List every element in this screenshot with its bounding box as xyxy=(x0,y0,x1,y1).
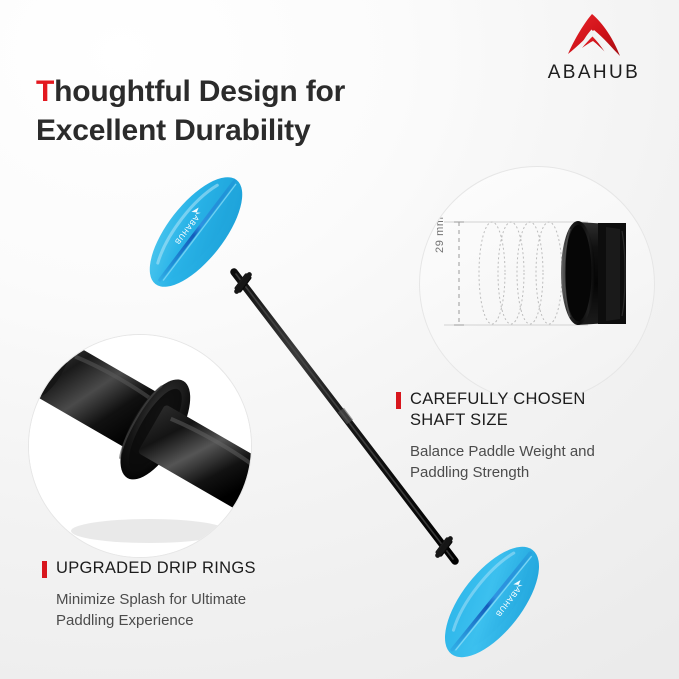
blade-brand-text-bottom: ABAHUB xyxy=(493,585,522,619)
shaft-size-diagram xyxy=(420,167,654,401)
callout-drip-rings: UPGRADED DRIP RINGS Minimize Splash for … xyxy=(42,558,342,631)
page-title-accent-letter: T xyxy=(36,75,54,108)
blade-swoosh-icon-bottom xyxy=(513,578,524,589)
callout-drip-heading-row: UPGRADED DRIP RINGS xyxy=(42,558,342,579)
brand-name: ABAHUB xyxy=(533,62,655,84)
callout-shaft-size: CAREFULLY CHOSEN SHAFT SIZE Balance Padd… xyxy=(396,389,666,483)
callout-shaft-body: Balance Paddle Weight and Paddling Stren… xyxy=(410,441,666,484)
callout-accent-bar xyxy=(42,561,47,578)
blade-brand-text-top: ABAHUB xyxy=(173,213,202,246)
drip-ring-photo xyxy=(29,335,251,557)
paddle-blade-top: ABAHUB xyxy=(133,163,258,301)
page-title-rest: houghtful Design for Excellent Durabilit… xyxy=(36,75,345,147)
blade-swoosh-icon-top xyxy=(191,206,202,217)
shaft-dimension-label: 29 mm xyxy=(434,216,446,253)
drip-ring-inset xyxy=(28,334,252,558)
paddle-blade-bottom: ABAHUB xyxy=(428,532,557,673)
abahub-swoosh-icon xyxy=(554,12,634,58)
callout-accent-bar xyxy=(396,392,401,409)
drip-ring-bottom xyxy=(433,534,455,560)
shaft-size-inset: 29 mm xyxy=(419,166,655,402)
product-feature-page: Thoughtful Design for Excellent Durabili… xyxy=(0,0,679,679)
page-title: Thoughtful Design for Excellent Durabili… xyxy=(36,72,506,150)
callout-drip-body: Minimize Splash for Ultimate Paddling Ex… xyxy=(56,589,342,632)
callout-shaft-heading-row: CAREFULLY CHOSEN SHAFT SIZE xyxy=(396,389,666,431)
drip-ring-top xyxy=(232,270,254,296)
callout-drip-heading: UPGRADED DRIP RINGS xyxy=(56,558,256,579)
brand-logo: ABAHUB xyxy=(533,12,655,84)
callout-shaft-heading: CAREFULLY CHOSEN SHAFT SIZE xyxy=(410,389,586,431)
